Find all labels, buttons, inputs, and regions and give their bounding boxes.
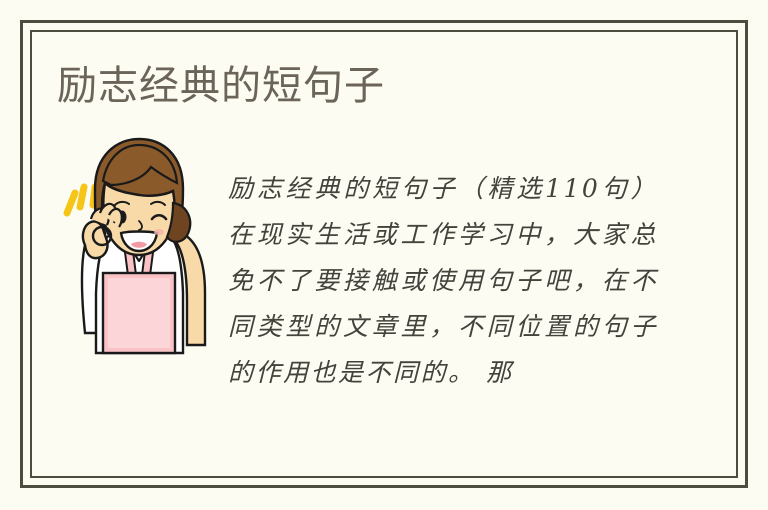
- article-body-text: 励志经典的短句子（精选110句）在现实生活或工作学习中，大家总免不了要接触或使用…: [228, 166, 658, 396]
- sparkle-icon: [67, 187, 95, 213]
- woman-ok-gesture-illustration: [55, 133, 215, 355]
- page-title: 励志经典的短句子: [57, 62, 385, 110]
- article-card: 励志经典的短句子: [0, 0, 768, 510]
